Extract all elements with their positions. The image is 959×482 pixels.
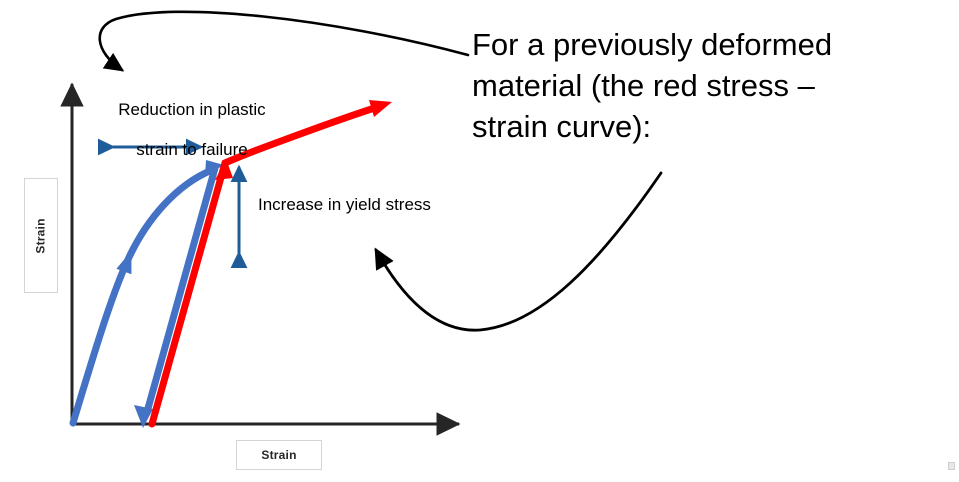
increase-in-yield-stress-label: Increase in yield stress xyxy=(258,195,431,215)
reduction-in-plastic-strain-label: Reduction in plastic strain to failure xyxy=(75,80,290,180)
slide-body-text: For a previously deformed material (the … xyxy=(472,24,942,148)
callout-arrow-top-path xyxy=(100,12,468,70)
x-axis-label-box: Strain xyxy=(236,440,322,470)
body-text-line-2: material (the red stress – xyxy=(472,65,942,106)
red-curve-failure-arrowhead xyxy=(369,100,392,117)
reduction-label-line2: strain to failure xyxy=(136,140,248,159)
slide-canvas: Reduction in plastic strain to failure I… xyxy=(0,0,959,482)
blue-unloading-branch xyxy=(147,168,215,412)
y-axis-label-box: Strain xyxy=(24,178,58,293)
body-text-line-3: strain curve): xyxy=(472,106,942,147)
body-text-line-1: For a previously deformed xyxy=(472,24,942,65)
blue-stress-strain-curve xyxy=(73,160,224,428)
y-axis-label-text: Strain xyxy=(34,218,48,253)
reduction-label-line1: Reduction in plastic xyxy=(118,100,265,119)
callout-arrow-top xyxy=(100,12,468,70)
corner-artifact xyxy=(948,462,955,470)
x-axis-label-text: Strain xyxy=(261,448,296,462)
